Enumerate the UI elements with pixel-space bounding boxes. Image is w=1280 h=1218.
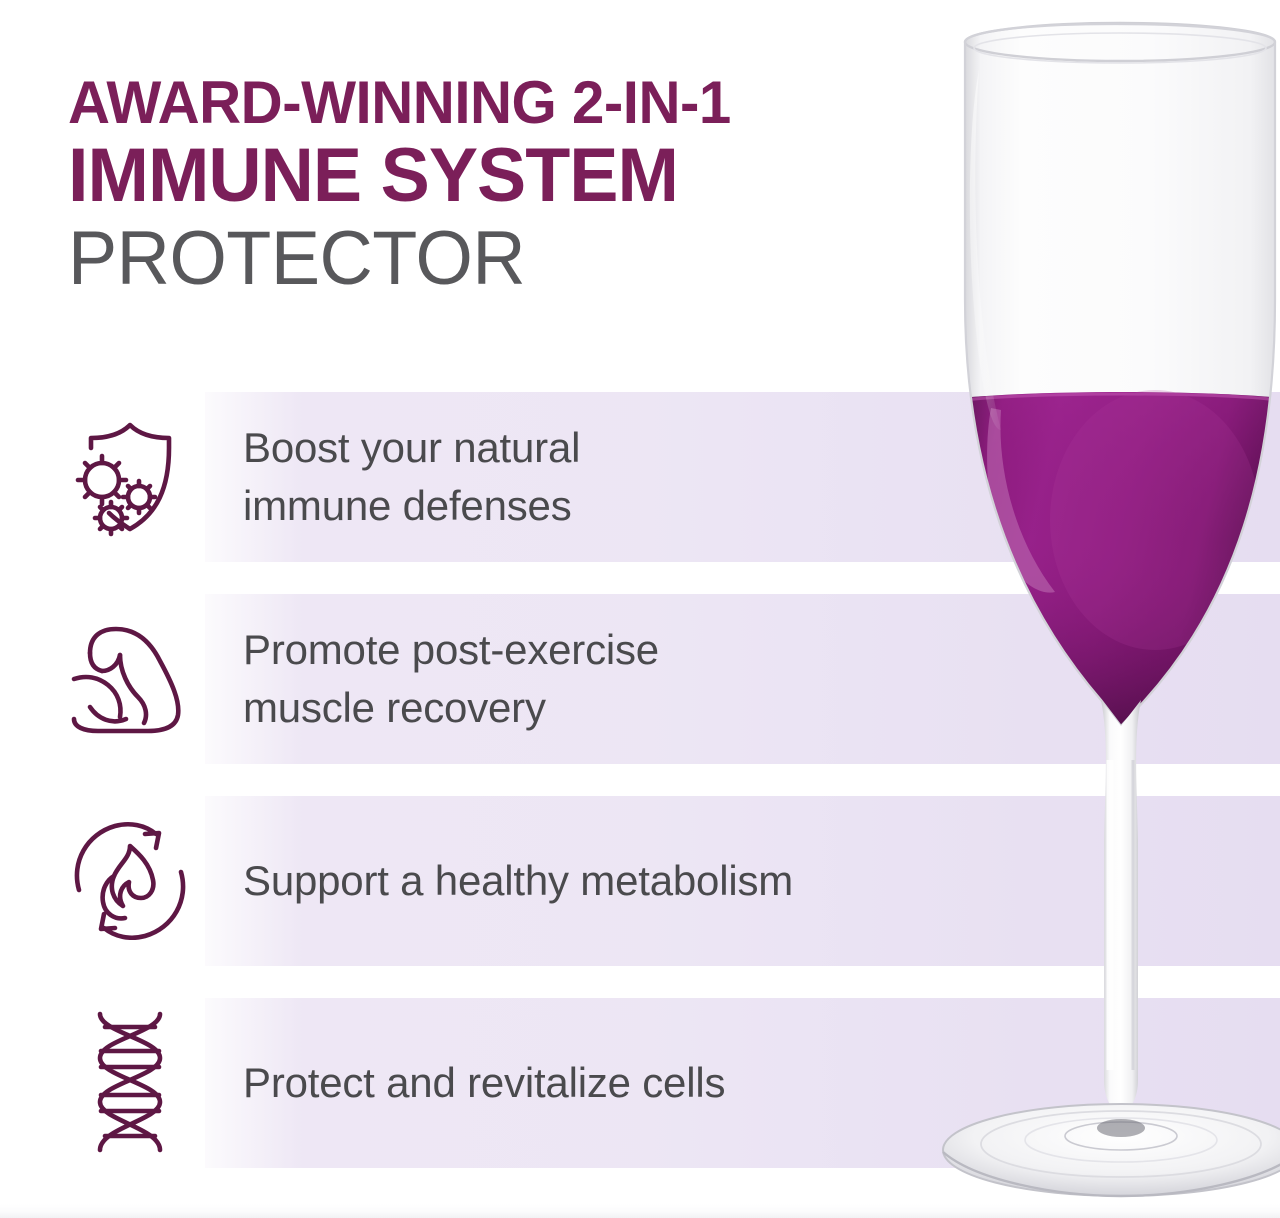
shield-germ-icon <box>62 392 197 562</box>
benefit-label: Support a healthy metabolism <box>243 796 793 966</box>
page-title: AWARD-WINNING 2-IN-1 IMMUNE SYSTEM PROTE… <box>68 72 948 300</box>
flexed-bicep-icon <box>62 594 197 764</box>
list-item: Promote post-exercise muscle recovery <box>0 594 1280 764</box>
headline-line-2: IMMUNE SYSTEM <box>68 136 922 216</box>
benefit-label: Protect and revitalize cells <box>243 998 725 1168</box>
dna-helix-icon <box>62 998 197 1168</box>
list-item: Boost your natural immune defenses <box>0 392 1280 562</box>
footer-divider <box>0 1204 1280 1218</box>
headline-line-1: AWARD-WINNING 2-IN-1 <box>68 72 922 134</box>
benefit-list: Boost your natural immune defenses Promo… <box>0 392 1280 1168</box>
glass-rim <box>965 23 1275 61</box>
benefit-label: Boost your natural immune defenses <box>243 392 580 562</box>
headline-line-3: PROTECTOR <box>68 218 922 300</box>
promo-banner: AWARD-WINNING 2-IN-1 IMMUNE SYSTEM PROTE… <box>0 0 1280 1218</box>
list-item: Protect and revitalize cells <box>0 998 1280 1168</box>
flame-cycle-icon <box>62 796 197 966</box>
list-item: Support a healthy metabolism <box>0 796 1280 966</box>
benefit-label: Promote post-exercise muscle recovery <box>243 594 659 764</box>
